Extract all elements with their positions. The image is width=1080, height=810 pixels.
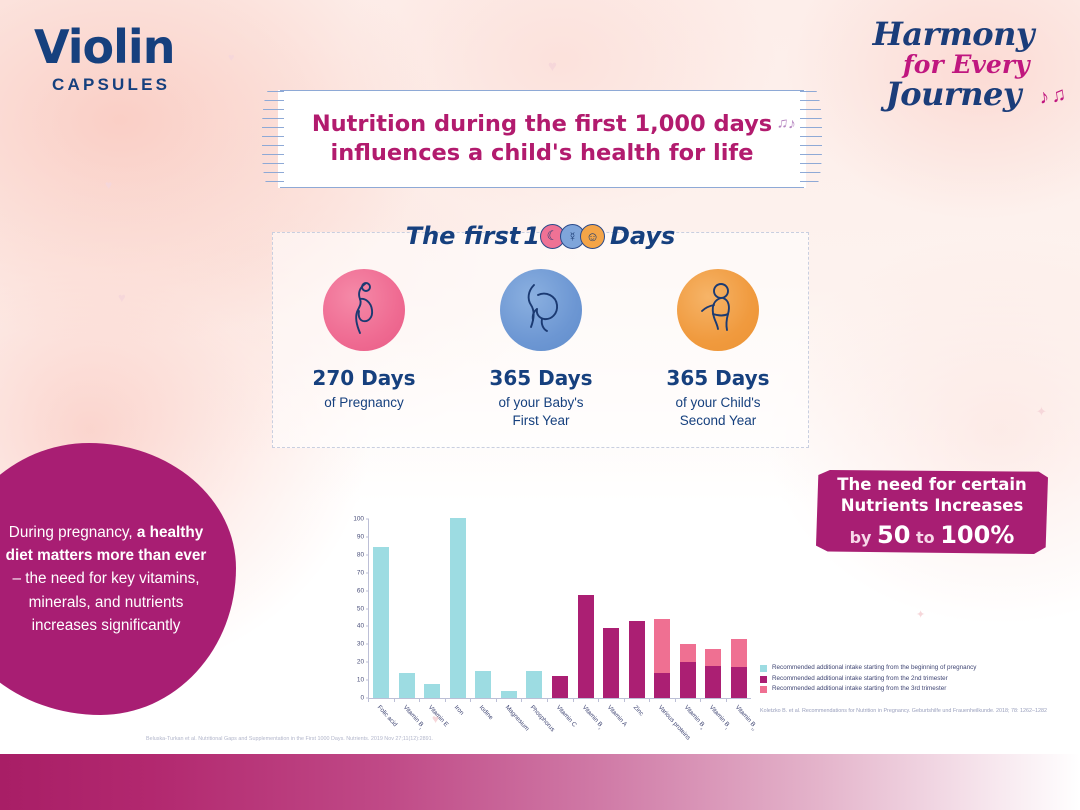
day-count: 365 Days (466, 367, 616, 389)
y-axis-tick-label: 90 (357, 533, 364, 540)
x-axis-tick (368, 698, 369, 702)
legend-item: Recommended additional intake starting f… (760, 664, 1050, 672)
chart-bar (629, 621, 645, 698)
music-notes-icon: ♫♪ (776, 115, 796, 133)
headline-line-2: influences a child's health for life (312, 139, 772, 168)
x-axis-tick (547, 698, 548, 702)
x-axis-tick-label: Vitamin B₁₂ (733, 704, 759, 732)
x-axis-tick (726, 698, 727, 702)
chart-bar-segment (450, 518, 466, 698)
day-caption: of your Child's Second Year (643, 394, 793, 430)
tagline-line-1: Harmony (873, 18, 1034, 50)
x-axis-tick (598, 698, 599, 702)
chart-bar (731, 639, 747, 698)
bottom-gradient-band (0, 754, 1080, 810)
heart-decoration-icon: ♥ (118, 290, 126, 305)
chart-bar (526, 671, 542, 698)
days-title-suffix: Days (610, 222, 675, 250)
day-count: 270 Days (289, 367, 439, 389)
brand-tagline: Harmony for Every Journey ♪♫ (873, 18, 1034, 110)
x-axis-tick (573, 698, 574, 702)
brand-name: Violin (34, 24, 174, 70)
chart-bar-slot: Folic acid (373, 519, 389, 698)
chart-bar-segment (654, 673, 670, 698)
x-axis-tick (445, 698, 446, 702)
chart-bar-slot: Phosphorus (526, 519, 542, 698)
chart-bar (450, 518, 466, 698)
chart-bar-slot: Vitamin B₂ (578, 519, 594, 698)
chart-bar-segment (475, 671, 491, 698)
tagline-line-2: for Every (899, 52, 1034, 77)
banner-top-edge (280, 90, 804, 91)
chart-bar-slot: Iron (450, 519, 466, 698)
legend-item: Recommended additional intake starting f… (760, 675, 1050, 683)
chart-bar-slot: Vitamin B₁ (705, 519, 721, 698)
y-axis-tick-label: 80 (357, 551, 364, 558)
y-axis-tick-label: 0 (360, 695, 364, 702)
chart-bar-slot: Vitamin B₁₂ (731, 519, 747, 698)
pregnancy-message-text: During pregnancy, a healthy diet matters… (0, 521, 207, 637)
day-column-baby-first-year: 365 Days of your Baby's First Year (466, 269, 616, 430)
y-axis-tick-label: 70 (357, 569, 364, 576)
banner-percent-low: 50 (877, 521, 910, 549)
x-axis-tick-label: Vitamin B₆ (682, 704, 707, 730)
x-axis-tick (624, 698, 625, 702)
days-title-mini-circles: ☾ ☿ ☺ (545, 224, 605, 249)
y-axis-tick-label: 20 (357, 659, 364, 666)
chart-bar (424, 684, 440, 698)
chart-bar-segment (578, 595, 594, 698)
banner-line-3: by 50 to 100% (850, 521, 1015, 549)
blob-text-part-1: During pregnancy, (9, 524, 137, 541)
heart-decoration-icon: ♥ (105, 178, 112, 192)
heart-decoration-icon: ♥ (548, 58, 557, 75)
chart-bar-segment (731, 667, 747, 698)
chart-bar (501, 691, 517, 698)
x-axis-tick-label: Vitamin B₁ (707, 704, 732, 730)
x-axis-tick-label: Iodine (478, 704, 494, 721)
x-axis-tick (419, 698, 420, 702)
chart-bar-slot: Magnesium (501, 519, 517, 698)
legend-label: Recommended additional intake starting f… (772, 685, 946, 693)
x-axis-tick (700, 698, 701, 702)
heart-decoration-icon: ♥ (228, 52, 235, 64)
chart-bar (603, 628, 619, 698)
chart-bar-slot: Vitamin B₁ (399, 519, 415, 698)
legend-item: Recommended additional intake starting f… (760, 685, 1050, 693)
legend-swatch (760, 686, 767, 693)
chart-bar (705, 649, 721, 698)
day-column-child-second-year: 365 Days of your Child's Second Year (643, 269, 793, 430)
x-axis-tick (649, 698, 650, 702)
day-column-pregnancy: 270 Days of Pregnancy (289, 269, 439, 412)
nutrient-intake-bar-chart: 0102030405060708090100 Folic acidVitamin… (340, 512, 755, 737)
y-axis-tick-label: 50 (357, 605, 364, 612)
citation-left: Beluska-Turkan et al. Nutritional Gaps a… (146, 736, 566, 743)
days-title-prefix: The first (406, 222, 521, 250)
chart-bar-segment (526, 671, 542, 698)
banner-to-label: to (910, 528, 940, 547)
chart-bar-segment (680, 644, 696, 662)
day-caption: of Pregnancy (289, 394, 439, 412)
pregnant-woman-icon (323, 269, 405, 351)
chart-bar-segment (705, 649, 721, 665)
y-axis-tick-label: 10 (357, 677, 364, 684)
chart-bar-segment (501, 691, 517, 698)
pregnancy-message-blob: During pregnancy, a healthy diet matters… (0, 443, 236, 715)
chart-bar-slot: Vitamin C (552, 519, 568, 698)
banner-by-label: by (850, 528, 877, 547)
chart-bar-segment (654, 619, 670, 673)
chart-bar (578, 595, 594, 698)
x-axis-tick-label: Vitamin C (555, 704, 578, 729)
brand-subtitle: CAPSULES (52, 75, 174, 95)
y-axis-tick-label: 100 (353, 516, 364, 523)
banner-line-2: Nutrients Increases (841, 496, 1024, 517)
y-axis-tick-label: 60 (357, 587, 364, 594)
banner-bottom-edge (280, 187, 804, 188)
headline-text: Nutrition during the first 1,000 days in… (312, 110, 772, 168)
x-axis-tick (394, 698, 395, 702)
chart-bar (654, 619, 670, 698)
x-axis-tick (470, 698, 471, 702)
y-axis-tick-label: 30 (357, 641, 364, 648)
y-axis-tick-label: 40 (357, 623, 364, 630)
chart-bar (475, 671, 491, 698)
chart-bar-slot: Vitamin A (603, 519, 619, 698)
star-decoration-icon: ✦ (916, 608, 925, 621)
legend-label: Recommended additional intake starting f… (772, 664, 976, 672)
x-axis-tick-label: Iron (452, 704, 464, 717)
chart-bar (399, 673, 415, 698)
star-decoration-icon: ✦ (1036, 404, 1047, 420)
x-axis-tick-label: Vitamin A (606, 704, 629, 728)
blob-text-part-2: – the need for key vitamins, minerals, a… (12, 570, 199, 634)
nutrient-increase-banner: The need for certain Nutrients Increases… (816, 470, 1048, 554)
chart-bar-segment (705, 666, 721, 698)
chart-bar-slot: Various proteins (654, 519, 670, 698)
x-axis-tick-label: Folic acid (376, 704, 399, 728)
x-axis-tick-label: Vitamin B₂ (579, 704, 604, 730)
toddler-icon (677, 269, 759, 351)
chart-bar-segment (552, 676, 568, 698)
chart-bar-segment (629, 621, 645, 698)
chart-bar (373, 547, 389, 698)
chart-bar-segment (424, 684, 440, 698)
chart-bar-segment (373, 547, 389, 698)
x-axis-tick-label: Magnesium (504, 704, 531, 732)
headline-line-1: Nutrition during the first 1,000 days (312, 110, 772, 139)
first-1000-days-panel: 270 Days of Pregnancy 365 Days of your B… (272, 232, 809, 448)
chart-bar-slot: Vitamin B₆ (680, 519, 696, 698)
chart-legend: Recommended additional intake starting f… (760, 664, 1050, 696)
chart-bar-segment (731, 639, 747, 668)
x-axis-tick (496, 698, 497, 702)
baby-nursing-icon (500, 269, 582, 351)
chart-plot-area: 0102030405060708090100 Folic acidVitamin… (368, 519, 751, 699)
x-axis-tick (521, 698, 522, 702)
x-axis-tick-label: Vitamin B₁ (400, 704, 425, 730)
tagline-line-3: Journey (873, 78, 1034, 110)
chart-bar (552, 676, 568, 698)
day-count: 365 Days (643, 367, 793, 389)
x-axis-tick-label: Zinc (631, 704, 644, 717)
x-axis-tick-label: Phosphorus (529, 704, 556, 733)
chart-bar-slot: Iodine (475, 519, 491, 698)
legend-swatch (760, 665, 767, 672)
chart-bar-segment (399, 673, 415, 698)
chart-bars: Folic acidVitamin B₁Vitamin EIronIodineM… (369, 519, 751, 698)
banner-line-1: The need for certain (837, 475, 1027, 496)
chart-bar-segment (680, 662, 696, 698)
first-1000-days-title: The first 1 ☾ ☿ ☺ Days (272, 222, 809, 250)
chart-bar-segment (603, 628, 619, 698)
brand-logo: Violin CAPSULES (34, 24, 174, 95)
legend-label: Recommended additional intake starting f… (772, 675, 948, 683)
banner-percent-high: 100% (940, 521, 1014, 549)
mini-toddler-icon: ☺ (580, 224, 605, 249)
x-axis-tick-label: Vitamin E (427, 704, 450, 728)
day-caption: of your Baby's First Year (466, 394, 616, 430)
headline-banner: Nutrition during the first 1,000 days in… (278, 90, 806, 188)
legend-swatch (760, 676, 767, 683)
infographic-page: ♥ ♥ ♥ ♥ ♥ ✦ ✦ Violin CAPSULES Harmony fo… (0, 0, 1080, 810)
days-title-digit: 1 (523, 222, 540, 250)
chart-bar (680, 644, 696, 698)
chart-bar-slot: Zinc (629, 519, 645, 698)
citation-right: Koletzko B. et al. Recommendations for N… (760, 708, 1060, 715)
chart-bar-slot: Vitamin E (424, 519, 440, 698)
x-axis-tick (675, 698, 676, 702)
music-notes-icon: ♪♫ (1038, 84, 1070, 108)
